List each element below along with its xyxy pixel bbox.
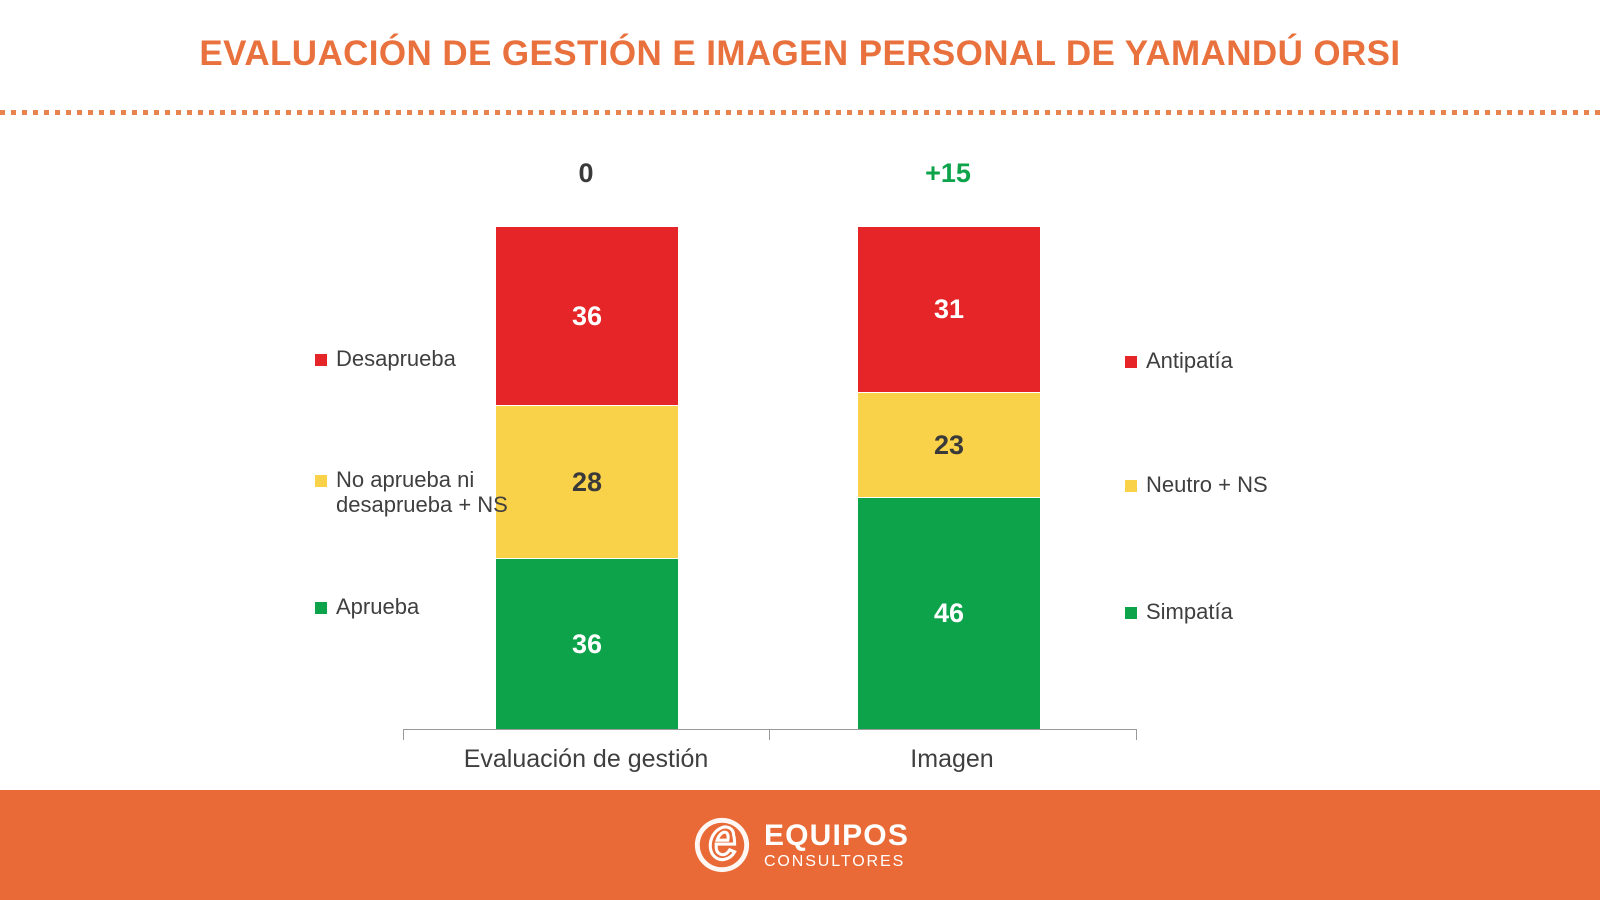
chart-plot-area: 0 +15 36 28 36 31 23 46 Evaluación de ge…	[0, 125, 1600, 790]
legend-label: Simpatía	[1146, 600, 1233, 625]
brand-logo: EQUIPOS CONSULTORES	[691, 814, 909, 876]
legend-item-simpatia[interactable]: Simpatía	[1125, 600, 1233, 625]
legend-left: Desaprueba No aprueba ni desaprueba + NS…	[305, 125, 535, 790]
legend-label: Neutro + NS	[1146, 473, 1268, 498]
legend-swatch-yellow-icon	[1125, 480, 1137, 492]
legend-item-desaprueba[interactable]: Desaprueba	[315, 347, 456, 372]
legend-item-antipatia[interactable]: Antipatía	[1125, 349, 1233, 374]
legend-label: Antipatía	[1146, 349, 1233, 374]
footer-bar: EQUIPOS CONSULTORES	[0, 790, 1600, 900]
legend-label: No aprueba ni desaprueba + NS	[336, 468, 521, 518]
legend-label: Desaprueba	[336, 347, 456, 372]
legend-swatch-green-icon	[1125, 607, 1137, 619]
legend-item-neutro-ns[interactable]: Neutro + NS	[1125, 473, 1268, 498]
legend-item-no-aprueba-ni-desaprueba[interactable]: No aprueba ni desaprueba + NS	[315, 468, 521, 518]
bar-segment-neutro-imagen[interactable]: 23	[858, 393, 1040, 497]
legend-swatch-red-icon	[315, 354, 327, 366]
equipos-e-logo-icon	[691, 814, 753, 876]
legend-item-aprueba[interactable]: Aprueba	[315, 595, 419, 620]
dotted-divider	[0, 110, 1600, 115]
bar-segment-antipatia[interactable]: 31	[858, 227, 1040, 392]
brand-name: EQUIPOS	[764, 821, 909, 851]
balance-label-imagen: +15	[848, 158, 1048, 189]
legend-right: Antipatía Neutro + NS Simpatía	[1120, 125, 1350, 790]
legend-swatch-yellow-icon	[315, 475, 327, 487]
legend-label: Aprueba	[336, 595, 419, 620]
x-axis-tick-middle	[769, 729, 770, 740]
legend-swatch-green-icon	[315, 602, 327, 614]
bar-segment-simpatia[interactable]: 46	[858, 498, 1040, 729]
page-title: EVALUACIÓN DE GESTIÓN E IMAGEN PERSONAL …	[199, 34, 1400, 74]
brand-subtitle: CONSULTORES	[764, 854, 909, 870]
x-axis-label-imagen: Imagen	[769, 745, 1135, 774]
title-bar: EVALUACIÓN DE GESTIÓN E IMAGEN PERSONAL …	[0, 0, 1600, 108]
legend-swatch-red-icon	[1125, 356, 1137, 368]
brand-wordmark: EQUIPOS CONSULTORES	[764, 821, 909, 870]
